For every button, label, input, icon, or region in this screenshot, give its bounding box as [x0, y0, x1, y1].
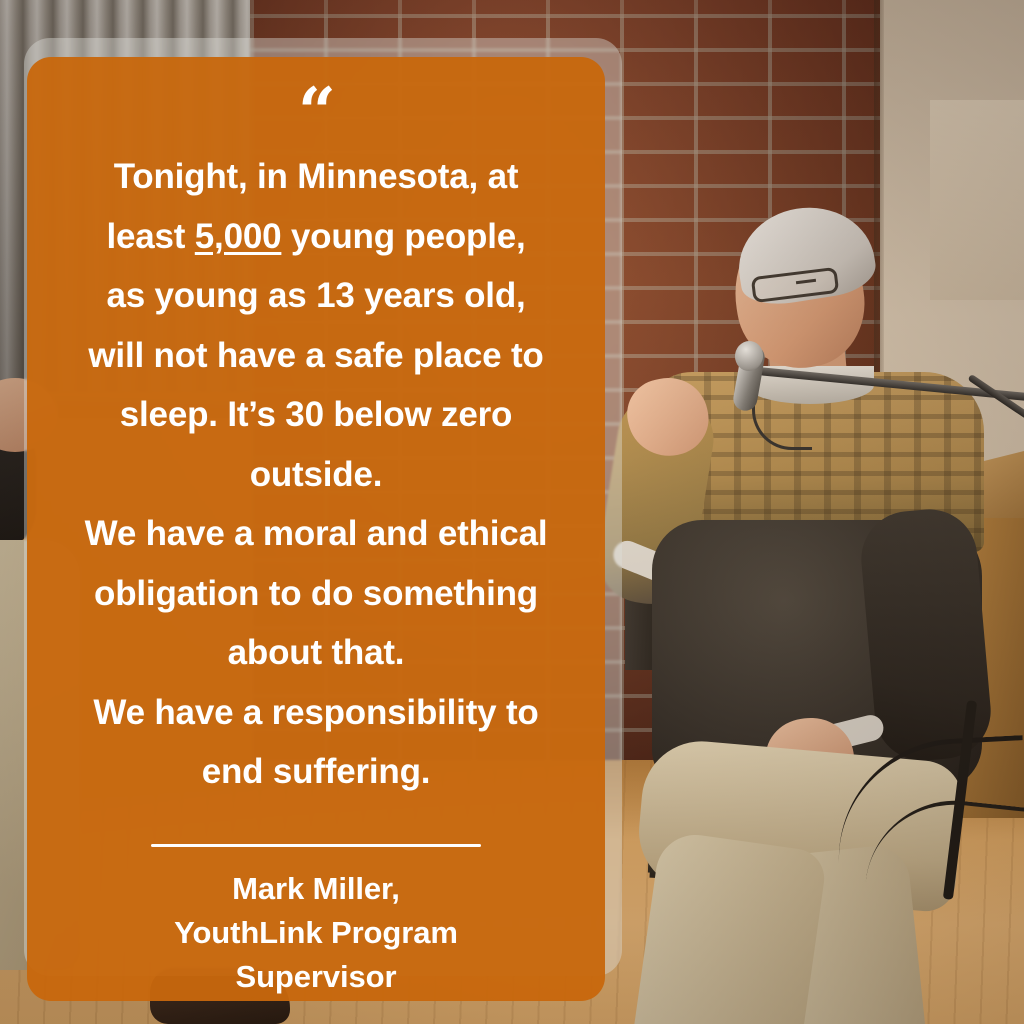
quote-line-3: as young as 13 years old, — [61, 266, 571, 326]
attribution-divider — [151, 844, 481, 847]
attribution-line-1: Mark Miller, — [61, 867, 571, 911]
quote-line-2-before: least — [106, 217, 194, 256]
quote-card: “ Tonight, in Minnesota, at least 5,000 … — [27, 57, 605, 1001]
quote-line-11: end suffering. — [61, 742, 571, 802]
quote-text: Tonight, in Minnesota, at least 5,000 yo… — [61, 147, 571, 802]
quote-line-2: least 5,000 young people, — [61, 207, 571, 267]
quote-line-10: We have a responsibility to — [61, 683, 571, 743]
quote-graphic: “ Tonight, in Minnesota, at least 5,000 … — [0, 0, 1024, 1024]
quote-line-2-after: young people, — [281, 217, 525, 256]
quote-line-6: outside. — [61, 445, 571, 505]
quote-line-7: We have a moral and ethical — [61, 504, 571, 564]
quote-line-9: about that. — [61, 623, 571, 683]
quote-line-8: obligation to do something — [61, 564, 571, 624]
quote-line-5: sleep. It’s 30 below zero — [61, 385, 571, 445]
speaker-figure — [600, 190, 1000, 1024]
quote-line-1: Tonight, in Minnesota, at — [61, 147, 571, 207]
quote-line-4: will not have a safe place to — [61, 326, 571, 386]
open-quote-icon: “ — [298, 79, 334, 131]
attribution-block: Mark Miller, YouthLink Program Superviso… — [61, 867, 571, 999]
highlighted-number: 5,000 — [195, 217, 282, 256]
attribution-line-3: Supervisor — [61, 955, 571, 999]
attribution-line-2: YouthLink Program — [61, 911, 571, 955]
